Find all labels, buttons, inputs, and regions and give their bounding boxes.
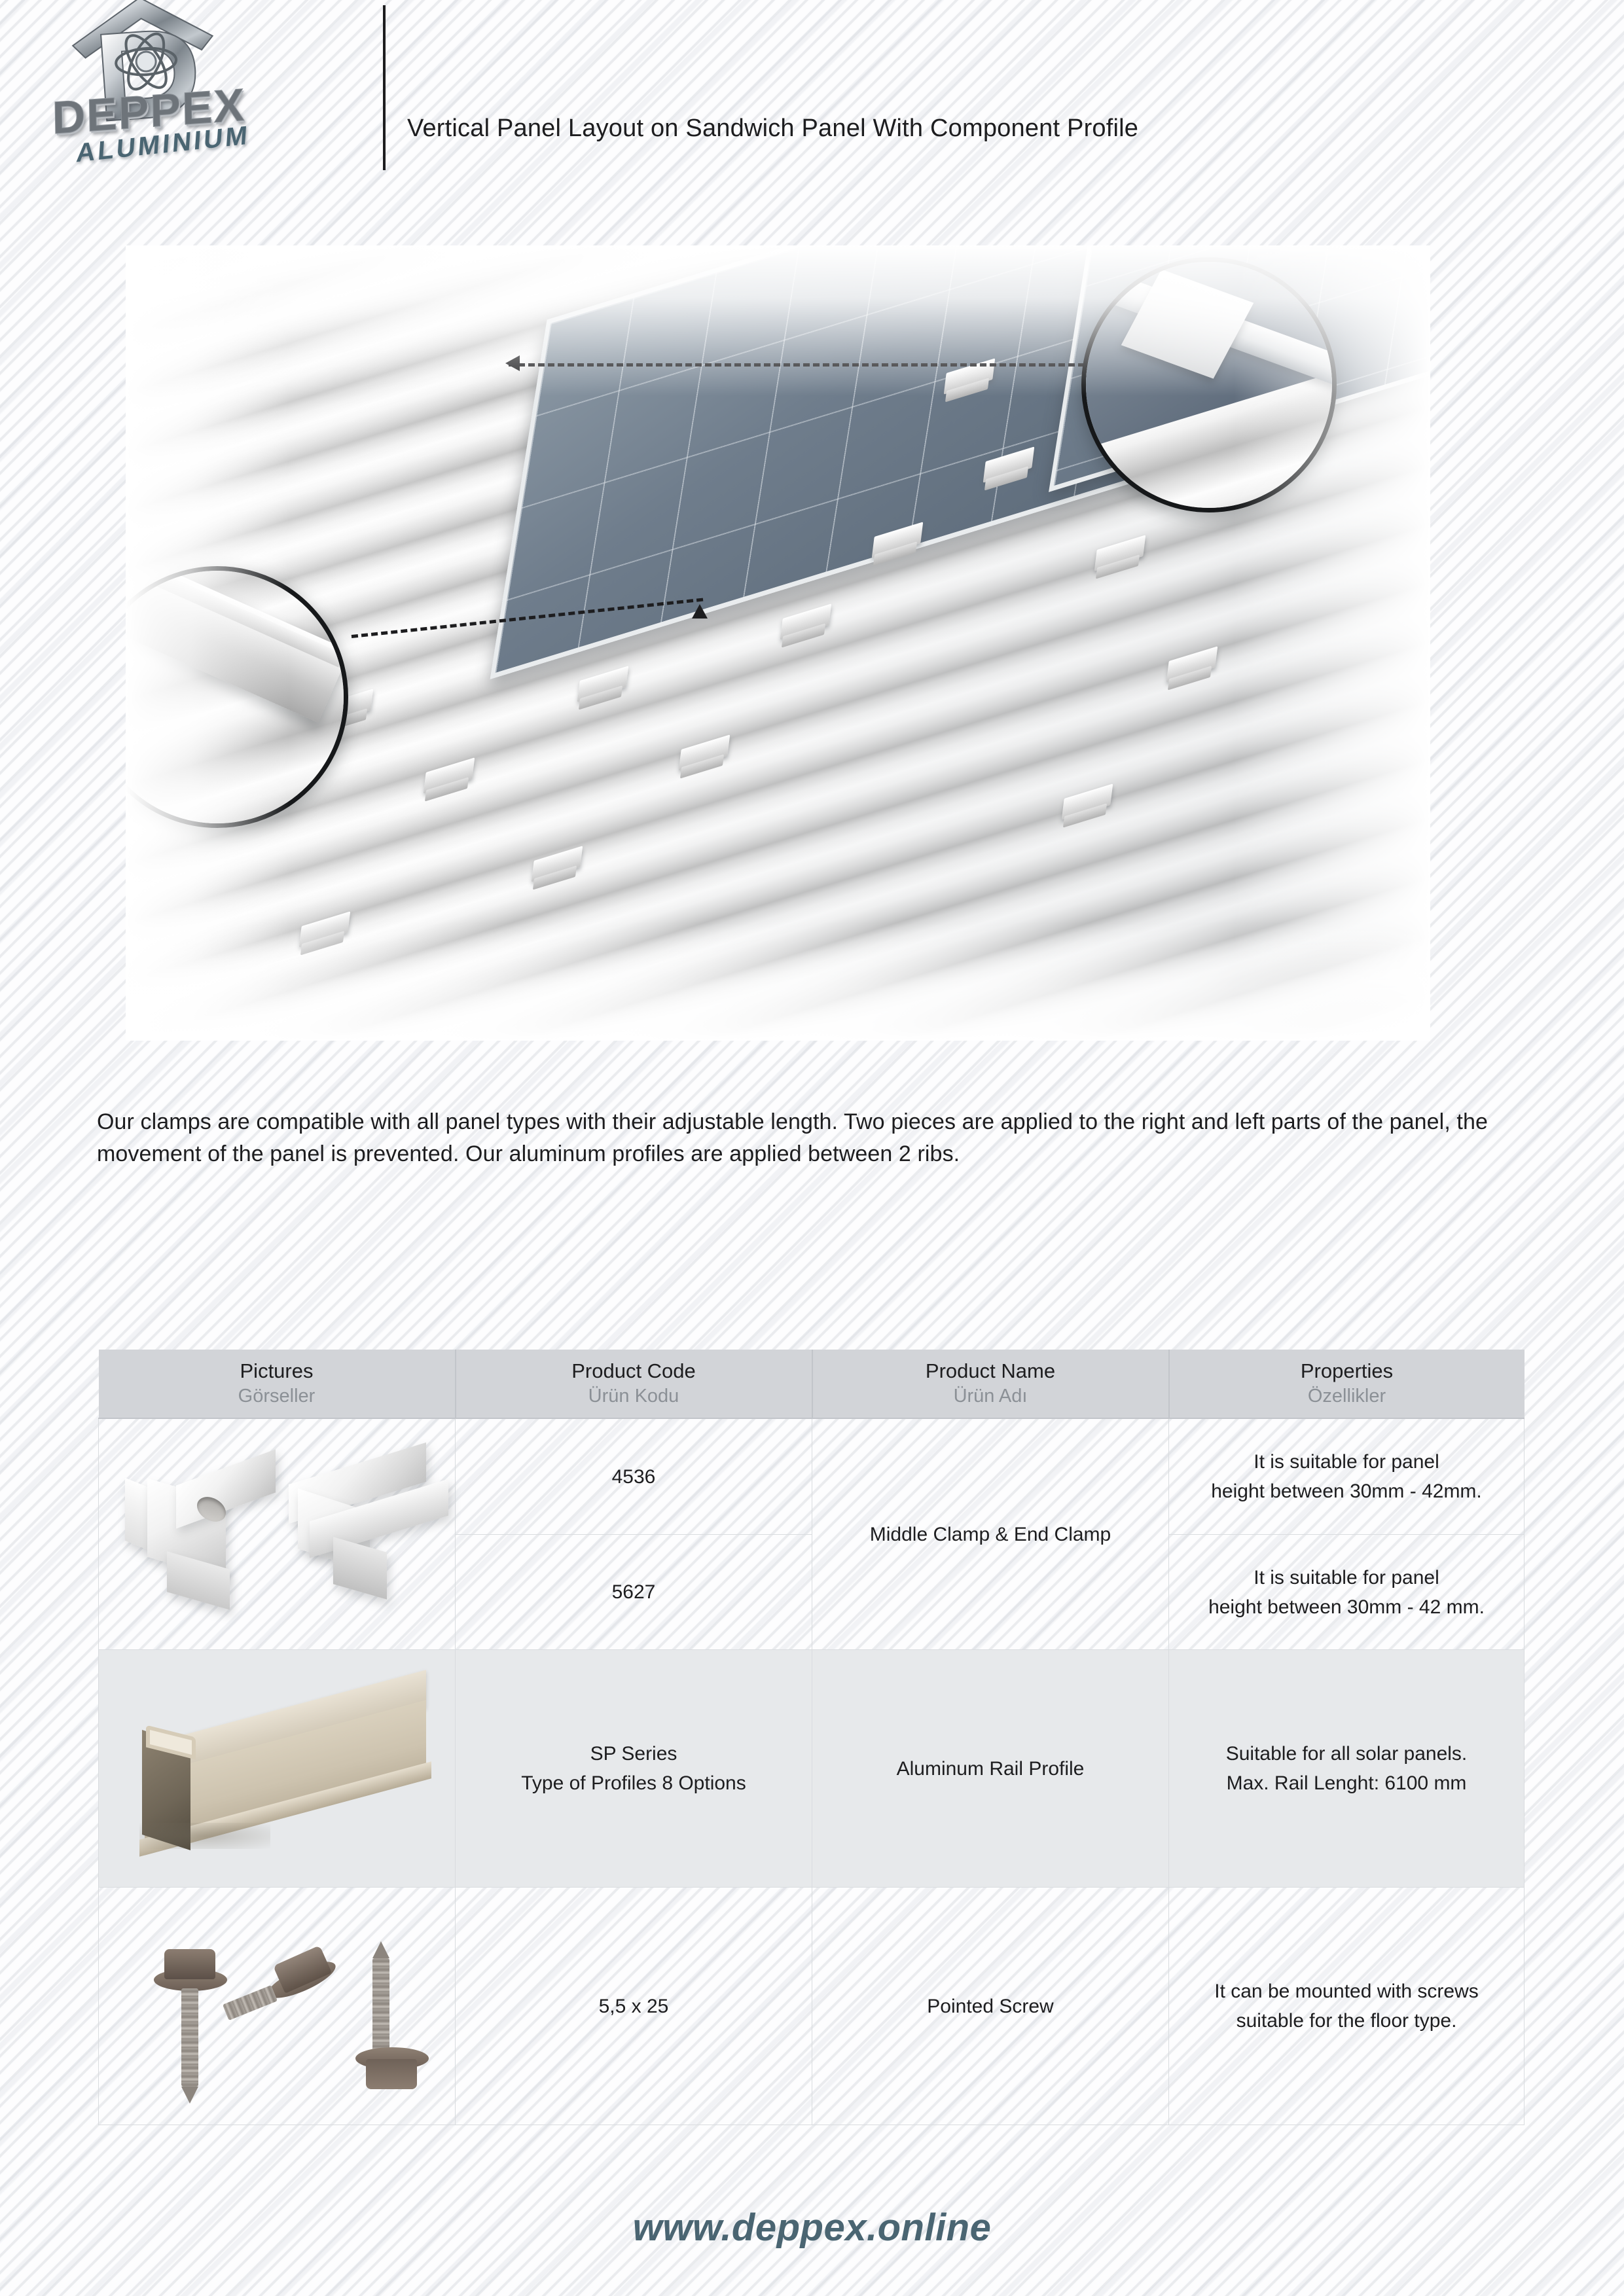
product-picture-cell [99,1650,456,1888]
column-header-properties: Properties Özellikler [1169,1350,1525,1418]
product-properties-cell: It is suitable for panel height between … [1169,1418,1525,1534]
column-header-product-code: Product Code Ürün Kodu [456,1350,812,1418]
table-row: 5,5 x 25 Pointed Screw It can be mounted… [99,1888,1525,2125]
photo-edge-fade [126,245,289,1041]
photo-edge-fade [126,923,1430,1041]
page-header: DEPPEX ALUMINIUM Vertical Panel Layout o… [0,0,1624,196]
product-properties-cell: It can be mounted with screws suitable f… [1169,1888,1525,2125]
deppex-logo: DEPPEX ALUMINIUM [33,0,261,190]
product-properties-cell: It is suitable for panel height between … [1169,1535,1525,1650]
table-header-row: Pictures Görseller Product Code Ürün Kod… [99,1350,1525,1418]
column-header-label-en: Pictures [105,1359,448,1384]
product-picture-cell [99,1418,456,1650]
product-code-cell: SP Series Type of Profiles 8 Options [456,1650,812,1888]
column-header-pictures: Pictures Görseller [99,1350,456,1418]
column-header-label-tr: Ürün Adı [820,1384,1162,1409]
product-code-cell: 5,5 x 25 [456,1888,812,2125]
footer-website[interactable]: www.deppex.online [0,2206,1624,2250]
column-header-label-en: Product Name [820,1359,1162,1384]
product-name-cell: Aluminum Rail Profile [812,1650,1169,1888]
product-name-cell: Middle Clamp & End Clamp [812,1418,1169,1650]
column-header-label-tr: Ürün Kodu [463,1384,805,1409]
product-name-cell: Pointed Screw [812,1888,1169,2125]
column-header-label-en: Product Code [463,1359,805,1384]
product-code-cell: 5627 [456,1535,812,1650]
column-header-label-tr: Görseller [105,1384,448,1409]
description-paragraph: Our clamps are compatible with all panel… [97,1106,1530,1171]
header-divider [383,5,386,170]
page-title: Vertical Panel Layout on Sandwich Panel … [407,115,1138,143]
middle-clamp-and-end-clamp-photo [113,1429,470,1639]
hero-photo [126,245,1430,1041]
column-header-label-en: Properties [1176,1359,1518,1384]
product-code-cell: 4536 [456,1418,812,1534]
photo-edge-fade [1234,245,1430,1041]
table-row: 4536 Middle Clamp & End Clamp It is suit… [99,1418,1525,1534]
column-header-product-name: Product Name Ürün Adı [812,1350,1169,1418]
product-specification-table: Pictures Görseller Product Code Ürün Kod… [98,1350,1525,2125]
table-row: SP Series Type of Profiles 8 Options Alu… [99,1650,1525,1888]
product-picture-cell [99,1888,456,2125]
pointed-screw-photo [113,1898,470,2114]
aluminum-rail-profile-photo [113,1660,470,1876]
column-header-label-tr: Özellikler [1176,1384,1518,1409]
product-properties-cell: Suitable for all solar panels. Max. Rail… [1169,1650,1525,1888]
